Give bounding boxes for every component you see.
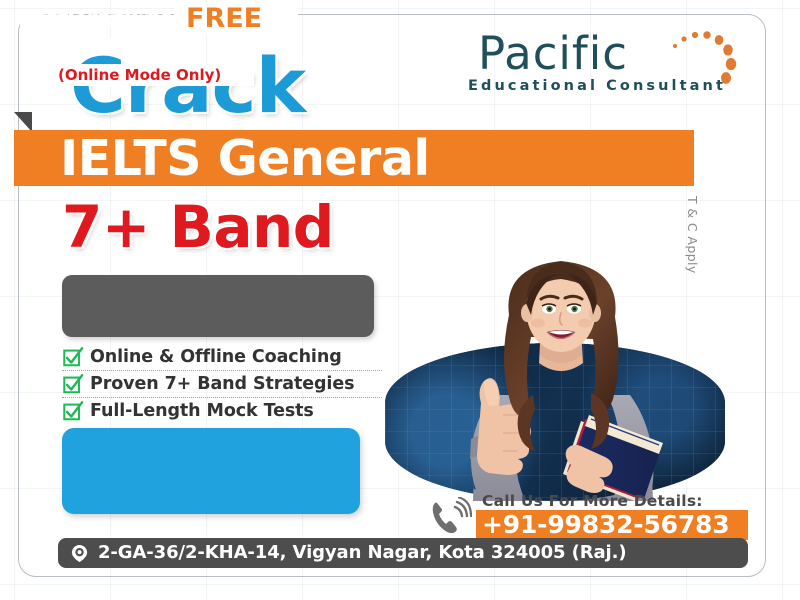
student-figure [385,243,725,501]
address-text: 2-GA-36/2-KHA-14, Vigyan Nagar, Kota 324… [98,538,626,568]
phone-call-icon[interactable] [428,497,472,537]
cta-note-label: (Online Mode Only) [58,64,221,86]
location-pin-icon [70,544,89,563]
student-photo [385,243,725,501]
feature-label: Proven 7+ Band Strategies [90,374,354,394]
logo-swoosh-dots-icon [664,24,754,96]
headline-ielts-general: IELTS General [60,131,430,187]
cta-line-two: Demo Today! [18,33,186,63]
logo-wordmark: Pacific [478,28,628,80]
feature-list: Online & Offline Coaching Proven 7+ Band… [62,344,382,424]
terms-conditions-note: T & C Apply [685,196,700,286]
cta-free-label: FREE [186,2,262,35]
list-item: Full-Length Mock Tests [62,398,382,424]
tagline-box [62,275,374,337]
green-check-box-icon [62,346,84,368]
poster-canvas: Pacific Educational Consultant Crack IEL… [0,0,800,600]
book-demo-cta-box[interactable] [62,428,360,514]
list-item: Proven 7+ Band Strategies [62,371,382,398]
headline-seven-plus-band: 7+ Band [62,193,334,261]
pacific-logo[interactable]: Pacific Educational Consultant [468,28,753,100]
list-item: Online & Offline Coaching [62,344,382,371]
green-check-box-icon [62,400,84,422]
phone-number[interactable]: +91-99832-56783 [482,509,729,541]
cta-line-one: Book Your [18,5,149,35]
feature-label: Online & Offline Coaching [90,347,342,367]
ribbon-fold-corner [14,112,32,132]
green-check-box-icon [62,373,84,395]
call-us-label: Call Us For More Details: [482,492,703,510]
feature-label: Full-Length Mock Tests [90,401,314,421]
